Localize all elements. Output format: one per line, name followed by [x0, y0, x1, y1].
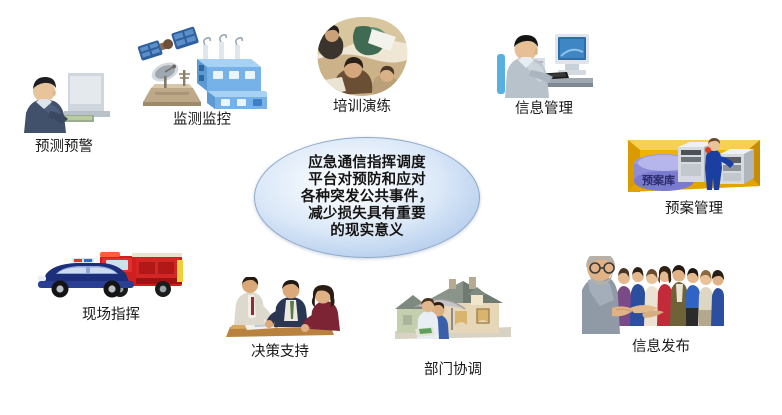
satellite-radar-factory-icon: [133, 17, 267, 109]
node-label-plan-management: 预案管理: [630, 202, 758, 217]
node-label-decision-support: 决策支持: [216, 345, 344, 360]
server-room-database-icon: 预案库: [620, 134, 770, 198]
meeting-discussion-icon: [218, 277, 342, 337]
node-monitoring-surveillance[interactable]: 监测监控: [133, 17, 267, 109]
desktop-workstation-icon: [495, 16, 593, 100]
node-label-forecast-warning: 预测预警: [0, 140, 128, 155]
node-label-monitoring-surveillance: 监测监控: [138, 113, 266, 128]
police-car-fire-truck-icon: [32, 248, 190, 304]
node-department-coordination[interactable]: 部门协调: [393, 277, 513, 341]
node-plan-management[interactable]: 预案库 预案管理: [620, 134, 770, 198]
speaker-audience-icon: [582, 256, 724, 334]
person-at-computer-icon: [10, 55, 114, 135]
center-ellipse-text: 应急通信指挥调度 平台对预防和应对 各种突发公共事件， 减少损失具有重要 的现实…: [301, 155, 433, 241]
node-label-information-release: 信息发布: [597, 340, 725, 355]
node-on-site-command[interactable]: 现场指挥: [32, 248, 190, 304]
node-label-department-coordination: 部门协调: [389, 363, 517, 378]
node-label-information-management: 信息管理: [480, 102, 608, 117]
node-training-drill[interactable]: 培训演练: [312, 15, 412, 98]
node-information-management[interactable]: 信息管理: [495, 16, 593, 100]
node-label-training-drill: 培训演练: [298, 100, 426, 115]
house-inspection-icon: [393, 277, 513, 341]
node-forecast-warning[interactable]: 预测预警: [10, 55, 114, 135]
node-label-on-site-command: 现场指挥: [47, 308, 175, 323]
node-information-release[interactable]: 信息发布: [582, 256, 724, 334]
diagram-canvas: 应急通信指挥调度 平台对预防和应对 各种突发公共事件， 减少损失具有重要 的现实…: [0, 0, 782, 415]
center-ellipse-node: 应急通信指挥调度 平台对预防和应对 各种突发公共事件， 减少损失具有重要 的现实…: [254, 137, 480, 258]
node-decision-support[interactable]: 决策支持: [218, 277, 342, 337]
plan-library-caption: 预案库: [642, 172, 675, 188]
training-people-photo-icon: [312, 15, 412, 98]
